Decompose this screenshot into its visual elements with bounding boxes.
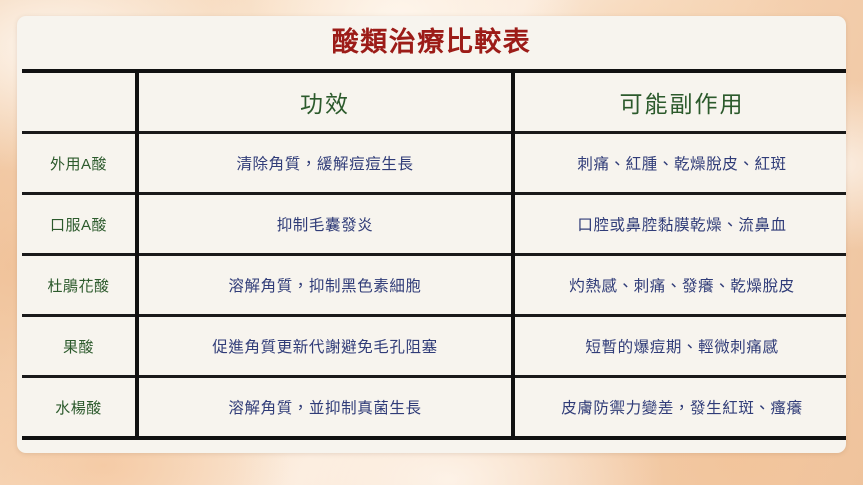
- table-row: 果酸 促進角質更新代謝避免毛孔阻塞 短暫的爆痘期、輕微刺痛感: [22, 316, 846, 377]
- row-label-topical-retinoid: 外用A酸: [22, 133, 137, 194]
- cell-effect-topical-retinoid: 清除角質，緩解痘痘生長: [137, 133, 513, 194]
- table-row: 外用A酸 清除角質，緩解痘痘生長 刺痛、紅腫、乾燥脫皮、紅斑: [22, 133, 846, 194]
- cell-effect-oral-retinoid: 抑制毛囊發炎: [137, 194, 513, 255]
- row-label-oral-retinoid: 口服A酸: [22, 194, 137, 255]
- header-cell-effect: 功效: [137, 71, 513, 133]
- table-header-row: 功效 可能副作用: [22, 71, 846, 133]
- header-cell-side-effect: 可能副作用: [513, 71, 846, 133]
- cell-side-effect-salicylic-acid: 皮膚防禦力變差，發生紅斑、瘙癢: [513, 377, 846, 439]
- cell-effect-azelaic-acid: 溶解角質，抑制黑色素細胞: [137, 255, 513, 316]
- acid-treatment-comparison-table: 功效 可能副作用 外用A酸 清除角質，緩解痘痘生長 刺痛、紅腫、乾燥脫皮、紅斑 …: [22, 69, 846, 440]
- cell-side-effect-topical-retinoid: 刺痛、紅腫、乾燥脫皮、紅斑: [513, 133, 846, 194]
- row-label-salicylic-acid: 水楊酸: [22, 377, 137, 439]
- cell-effect-aha: 促進角質更新代謝避免毛孔阻塞: [137, 316, 513, 377]
- table-row: 水楊酸 溶解角質，並抑制真菌生長 皮膚防禦力變差，發生紅斑、瘙癢: [22, 377, 846, 439]
- cell-side-effect-azelaic-acid: 灼熱感、刺痛、發癢、乾燥脫皮: [513, 255, 846, 316]
- table-row: 杜鵑花酸 溶解角質，抑制黑色素細胞 灼熱感、刺痛、發癢、乾燥脫皮: [22, 255, 846, 316]
- table-row: 口服A酸 抑制毛囊發炎 口腔或鼻腔黏膜乾燥、流鼻血: [22, 194, 846, 255]
- row-label-azelaic-acid: 杜鵑花酸: [22, 255, 137, 316]
- header-cell-blank: [22, 71, 137, 133]
- page-title: 酸類治療比較表: [17, 16, 846, 69]
- comparison-table-card: 酸類治療比較表 功效 可能副作用 外用A酸 清除角質，緩解痘痘生長 刺痛、紅腫、…: [17, 16, 846, 453]
- row-label-aha: 果酸: [22, 316, 137, 377]
- cell-side-effect-oral-retinoid: 口腔或鼻腔黏膜乾燥、流鼻血: [513, 194, 846, 255]
- cell-effect-salicylic-acid: 溶解角質，並抑制真菌生長: [137, 377, 513, 439]
- cell-side-effect-aha: 短暫的爆痘期、輕微刺痛感: [513, 316, 846, 377]
